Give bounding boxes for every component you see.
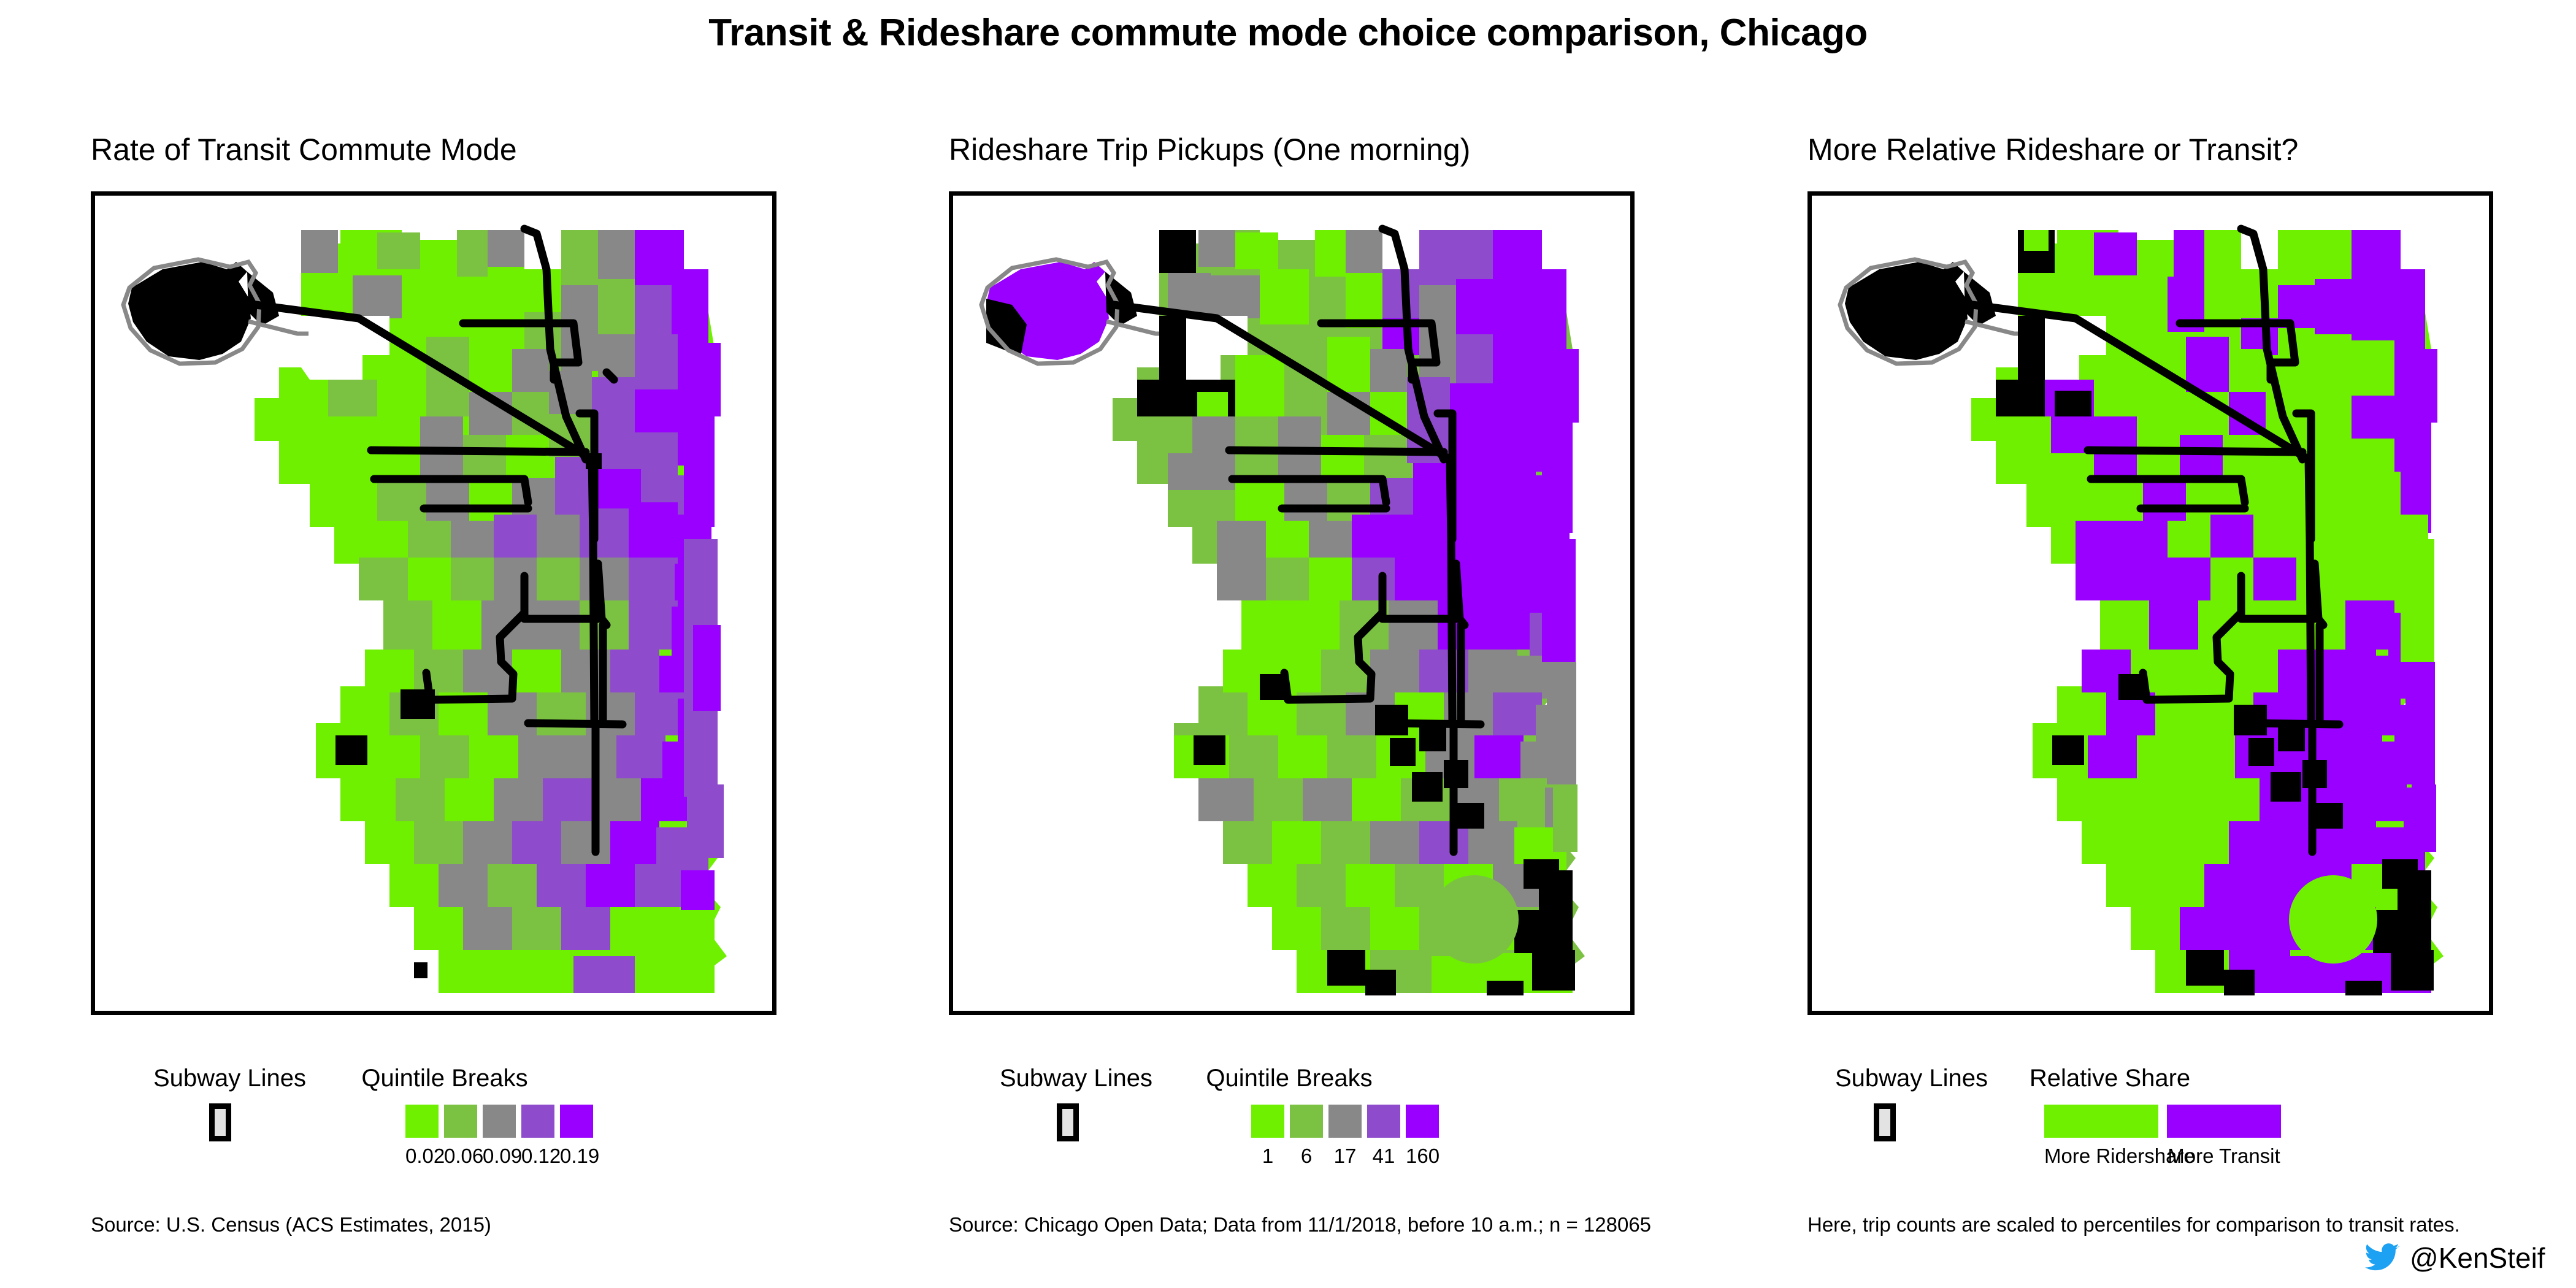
ohare-polygon-rideshare bbox=[981, 259, 1186, 383]
break-label-3: 0.09 bbox=[483, 1144, 516, 1168]
swatch-q5 bbox=[1406, 1105, 1439, 1138]
rel-label-1: More Ridershare bbox=[2044, 1144, 2158, 1168]
page-title: Transit & Rideshare commute mode choice … bbox=[0, 11, 2576, 55]
quintile-break-labels-transit: 0.02 0.06 0.09 0.12 0.19 bbox=[405, 1144, 599, 1168]
legend-subway-label-relative: Subway Lines bbox=[1835, 1065, 1970, 1092]
break-label-3: 17 bbox=[1328, 1144, 1362, 1168]
source-note-rideshare: Source: Chicago Open Data; Data from 11/… bbox=[949, 1213, 1651, 1236]
relative-swatches bbox=[2044, 1105, 2290, 1138]
panel-title-transit: Rate of Transit Commute Mode bbox=[91, 132, 517, 167]
source-note-relative: Here, trip counts are scaled to percenti… bbox=[1807, 1213, 2460, 1236]
break-label-1: 0.02 bbox=[405, 1144, 439, 1168]
map-rideshare-svg bbox=[953, 196, 1635, 1015]
break-label-1: 1 bbox=[1251, 1144, 1284, 1168]
swatch-q3 bbox=[1328, 1105, 1362, 1138]
subway-swatch-relative bbox=[1874, 1103, 1896, 1141]
relative-category-labels: More Ridershare More Transit bbox=[2044, 1144, 2290, 1168]
legend-scale-label-rideshare: Quintile Breaks bbox=[1185, 1065, 1393, 1092]
legend-scale-label-transit: Quintile Breaks bbox=[340, 1065, 549, 1092]
panel-title-relative: More Relative Rideshare or Transit? bbox=[1807, 132, 2298, 167]
credit-handle[interactable]: @KenSteif bbox=[2364, 1241, 2545, 1275]
swatch-q2 bbox=[1290, 1105, 1323, 1138]
quintile-swatches-rideshare bbox=[1251, 1105, 1444, 1138]
twitter-handle-text: @KenSteif bbox=[2410, 1241, 2545, 1275]
map-relative-svg bbox=[1812, 196, 2493, 1015]
break-label-4: 0.12 bbox=[521, 1144, 554, 1168]
ohare-polygon-relative bbox=[1840, 259, 2045, 383]
break-label-2: 0.06 bbox=[444, 1144, 477, 1168]
map-rideshare[interactable] bbox=[949, 191, 1635, 1015]
twitter-bird-icon bbox=[2364, 1243, 2400, 1273]
break-label-4: 41 bbox=[1367, 1144, 1400, 1168]
panel-title-rideshare: Rideshare Trip Pickups (One morning) bbox=[949, 132, 1470, 167]
map-transit-svg bbox=[95, 196, 776, 1015]
quintile-swatches-transit bbox=[405, 1105, 599, 1138]
swatch-q3 bbox=[483, 1105, 516, 1138]
legend-subway-label-rideshare: Subway Lines bbox=[1000, 1065, 1135, 1092]
choropleth-layer-transit bbox=[255, 230, 727, 993]
source-note-transit: Source: U.S. Census (ACS Estimates, 2015… bbox=[91, 1213, 491, 1236]
subway-swatch-transit bbox=[209, 1103, 231, 1141]
swatch-q5 bbox=[560, 1105, 593, 1138]
subway-swatch-rideshare bbox=[1057, 1103, 1079, 1141]
rel-label-2: More Transit bbox=[2167, 1144, 2281, 1168]
map-relative[interactable] bbox=[1807, 191, 2493, 1015]
map-transit[interactable] bbox=[91, 191, 776, 1015]
break-label-5: 0.19 bbox=[560, 1144, 593, 1168]
legend-scale-label-relative: Relative Share bbox=[2018, 1065, 2202, 1092]
legend-subway-label-transit: Subway Lines bbox=[153, 1065, 288, 1092]
swatch-q1 bbox=[1251, 1105, 1284, 1138]
break-label-5: 160 bbox=[1406, 1144, 1439, 1168]
swatch-more-rideshare bbox=[2044, 1105, 2158, 1138]
swatch-q1 bbox=[405, 1105, 439, 1138]
no-data-parcel bbox=[335, 735, 367, 765]
break-label-2: 6 bbox=[1290, 1144, 1323, 1168]
no-data-parcel bbox=[414, 962, 427, 978]
quintile-break-labels-rideshare: 1 6 17 41 160 bbox=[1251, 1144, 1444, 1168]
swatch-q4 bbox=[1367, 1105, 1400, 1138]
swatch-q2 bbox=[444, 1105, 477, 1138]
swatch-q4 bbox=[521, 1105, 554, 1138]
swatch-more-transit bbox=[2167, 1105, 2281, 1138]
